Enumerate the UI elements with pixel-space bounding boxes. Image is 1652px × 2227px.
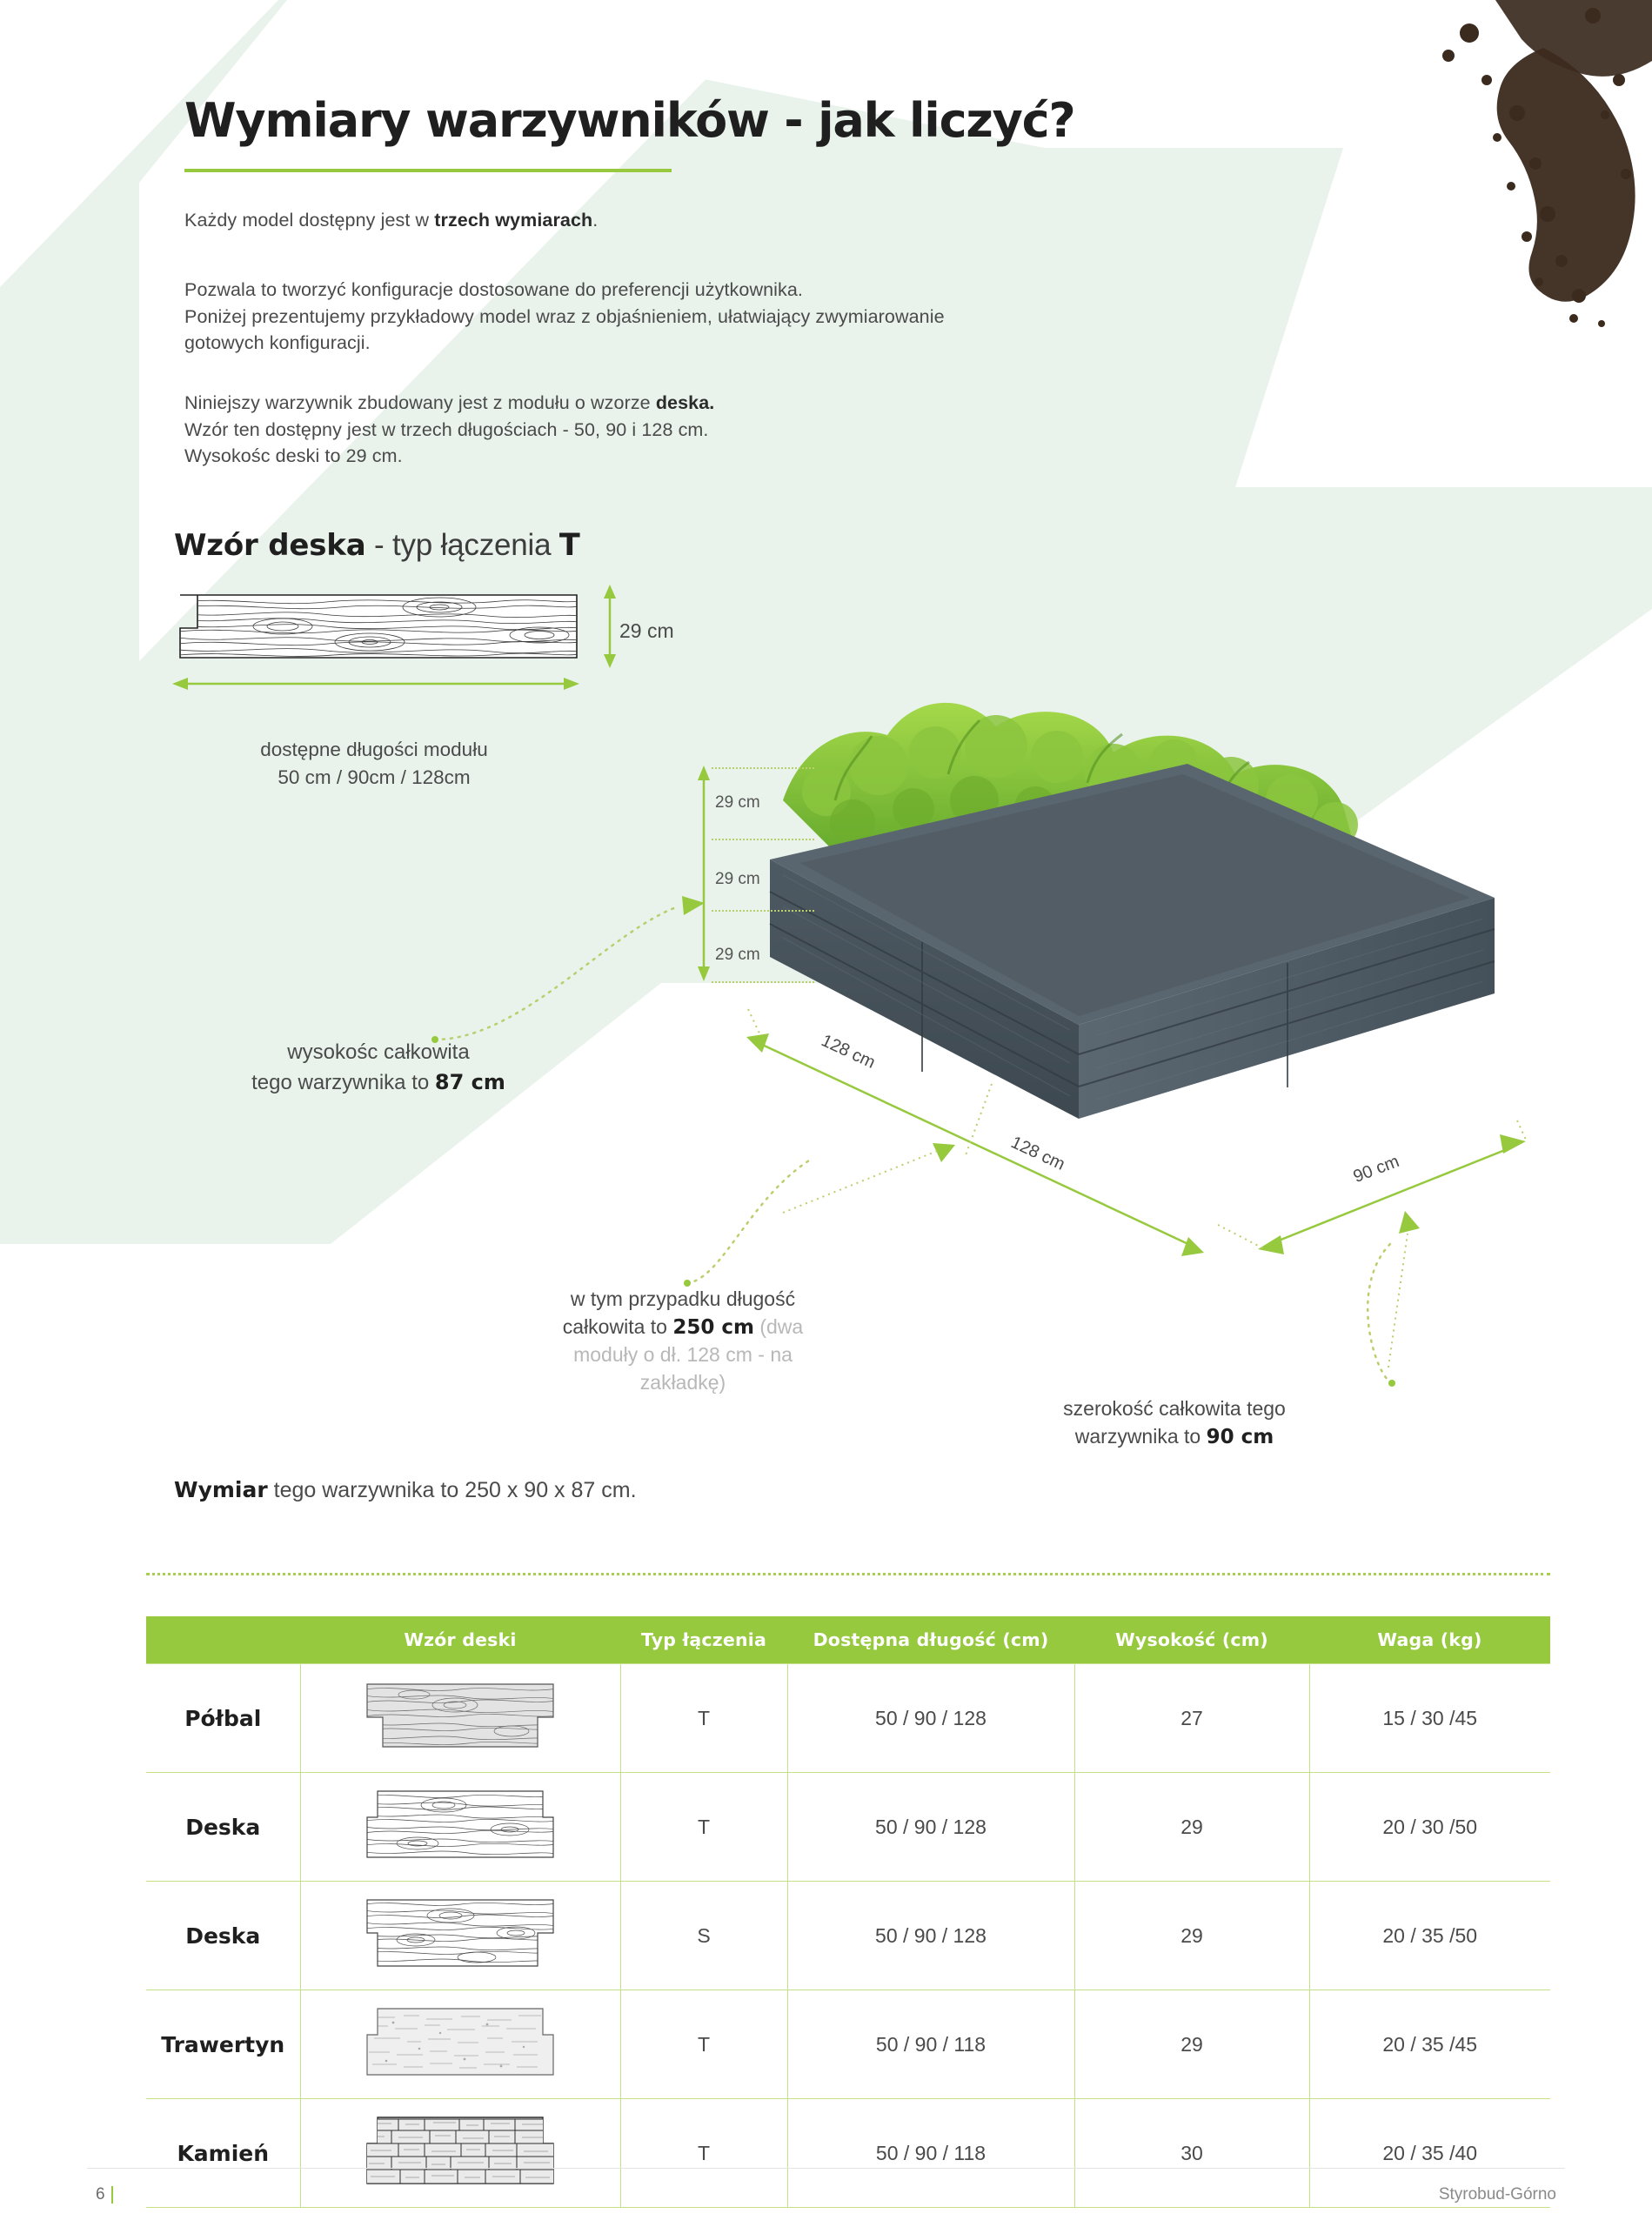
height-guide-1 — [712, 767, 814, 769]
height-guide-2 — [712, 839, 814, 840]
row-lengths: 50 / 90 / 128 — [787, 1882, 1074, 1990]
summary-bold: Wymiar — [174, 1477, 268, 1502]
row-swatch — [300, 1990, 620, 2099]
table-col-pattern: Wzór deski — [300, 1616, 620, 1664]
row-height: 29 — [1074, 1990, 1309, 2099]
plank-length-caption: dostępne długości modułu 50 cm / 90cm / … — [130, 736, 618, 792]
table-row: Deska — [146, 1773, 1550, 1882]
pattern-heading: Wzór deska - typ łączenia T — [174, 528, 580, 563]
page-number-bar-icon — [111, 2186, 113, 2204]
row-height: 29 — [1074, 1882, 1309, 1990]
row-height: 30 — [1074, 2099, 1309, 2208]
row-swatch — [300, 1773, 620, 1882]
dotted-separator — [146, 1573, 1550, 1575]
row-joint: T — [620, 1773, 787, 1882]
intro-p3-line3: Wysokośc deski to 29 cm. — [184, 445, 403, 466]
intro-p2-line2: Poniżej prezentujemy przykładowy model w… — [184, 306, 945, 327]
summary-rest: tego warzywnika to 250 x 90 x 87 cm. — [268, 1478, 637, 1502]
table-row: Deska — [146, 1882, 1550, 1990]
width-caption-line1: szerokość całkowita tego — [1063, 1397, 1286, 1420]
specification-table: Wzór deski Typ łączenia Dostępna długość… — [146, 1616, 1550, 2208]
table-col-weight: Waga (kg) — [1309, 1616, 1550, 1664]
row-weight: 20 / 35 /45 — [1309, 1990, 1550, 2099]
row-lengths: 50 / 90 / 128 — [787, 1773, 1074, 1882]
wood-board-t-swatch-icon — [364, 1786, 557, 1863]
pattern-heading-bold: Wzór deska — [174, 528, 365, 563]
plank-height-label: 29 cm — [619, 619, 674, 643]
total-height-value: 87 cm — [435, 1070, 505, 1094]
height-guide-4 — [712, 981, 814, 983]
row-weight: 15 / 30 /45 — [1309, 1664, 1550, 1773]
row-name: Deska — [146, 1773, 300, 1882]
row-name: Kamień — [146, 2099, 300, 2208]
length-leader-line — [670, 1131, 896, 1305]
travertine-swatch-icon — [364, 2003, 557, 2080]
row-joint: S — [620, 1882, 787, 1990]
table-row: Trawertyn — [146, 1990, 1550, 2099]
row-weight: 20 / 30 /50 — [1309, 1773, 1550, 1882]
stone-swatch-icon — [364, 2112, 557, 2189]
intro-paragraph-1: Każdy model dostępny jest w trzech wymia… — [184, 207, 1315, 234]
page-title: Wymiary warzywników - jak liczyć? — [184, 96, 1402, 146]
page-number-value: 6 — [96, 2185, 105, 2204]
row-lengths: 50 / 90 / 128 — [787, 1664, 1074, 1773]
row-name: Półbal — [146, 1664, 300, 1773]
height-leader-line — [418, 879, 722, 1053]
row-joint: T — [620, 1990, 787, 2099]
row-lengths: 50 / 90 / 118 — [787, 2099, 1074, 2208]
table-row: Półbal — [146, 1664, 1550, 1773]
plank-height-arrow-icon — [600, 585, 619, 668]
total-height-caption: wysokośc całkowita tego warzywnika to 87… — [148, 1038, 609, 1098]
height-guide-3 — [712, 910, 814, 912]
intro-paragraph-3: Niniejszy warzywnik zbudowany jest z mod… — [184, 390, 1315, 470]
intro-p3-line2: Wzór ten dostępny jest w trzech długości… — [184, 419, 709, 440]
pattern-heading-type: T — [559, 528, 580, 563]
page-number: 6 — [96, 2185, 113, 2204]
intro-p1-bold: trzech wymiarach — [434, 210, 592, 231]
length-caption-line2-pre: całkowita to — [563, 1315, 673, 1338]
row-name: Deska — [146, 1882, 300, 1990]
header: Wymiary warzywników - jak liczyć? — [184, 96, 1402, 172]
table-col-height: Wysokość (cm) — [1074, 1616, 1309, 1664]
plank-length-caption-line2: 50 cm / 90cm / 128cm — [278, 766, 470, 788]
total-length-caption: w tym przypadku długość całkowita to 250… — [487, 1286, 879, 1397]
length-caption-line3: moduły o dł. 128 cm - na — [573, 1343, 793, 1366]
intro-p2-line1: Pozwala to tworzyć konfiguracje dostosow… — [184, 279, 803, 300]
width-leader-line — [1201, 1235, 1401, 1401]
intro-p2-line3: gotowych konfiguracji. — [184, 332, 371, 353]
plank-illustration — [178, 590, 579, 661]
row-height: 27 — [1074, 1664, 1309, 1773]
table-row: Kamień — [146, 2099, 1550, 2208]
total-length-value: 250 cm — [672, 1316, 754, 1339]
width-caption-line2-pre: warzywnika to — [1075, 1425, 1207, 1448]
intro-p1-pre: Każdy model dostępny jest w — [184, 210, 434, 231]
length-caption-line2-faded: (dwa — [754, 1315, 803, 1338]
table-col-joint: Typ łączenia — [620, 1616, 787, 1664]
total-width-caption: szerokość całkowita tego warzywnika to 9… — [992, 1395, 1357, 1451]
height-segment-label-1: 29 cm — [715, 793, 760, 813]
row-swatch — [300, 2099, 620, 2208]
wood-board-s-swatch-icon — [364, 1895, 557, 1971]
row-height: 29 — [1074, 1773, 1309, 1882]
total-height-line2-pre: tego warzywnika to — [251, 1071, 435, 1094]
plank-length-arrow-icon — [172, 675, 579, 692]
intro-p3-pre: Niniejszy warzywnik zbudowany jest z mod… — [184, 392, 656, 413]
intro-paragraph-2: Pozwala to tworzyć konfiguracje dostosow… — [184, 277, 1359, 357]
table-header-row: Wzór deski Typ łączenia Dostępna długość… — [146, 1616, 1550, 1664]
intro-p3-bold: deska. — [656, 392, 715, 413]
brand-name: Styrobud-Górno — [1439, 2185, 1556, 2204]
intro-p1-post: . — [592, 210, 598, 231]
plank-length-caption-line1: dostępne długości modułu — [260, 739, 487, 760]
table-col-length: Dostępna długość (cm) — [787, 1616, 1074, 1664]
length-caption-line1: w tym przypadku długość — [571, 1287, 795, 1310]
table-col-blank — [146, 1616, 300, 1664]
row-lengths: 50 / 90 / 118 — [787, 1990, 1074, 2099]
row-joint: T — [620, 2099, 787, 2208]
row-joint: T — [620, 1664, 787, 1773]
total-width-value: 90 cm — [1207, 1426, 1274, 1448]
length-caption-line4: zakładkę) — [640, 1371, 726, 1394]
title-underline — [184, 169, 672, 172]
wood-halflog-swatch-icon — [364, 1677, 557, 1754]
row-name: Trawertyn — [146, 1990, 300, 2099]
total-height-line1: wysokośc całkowita — [287, 1040, 469, 1064]
row-weight: 20 / 35 /50 — [1309, 1882, 1550, 1990]
row-swatch — [300, 1664, 620, 1773]
footer-divider — [87, 2168, 1565, 2169]
summary-line: Wymiar tego warzywnika to 250 x 90 x 87 … — [174, 1477, 637, 1503]
pattern-heading-mid: - typ łączenia — [365, 528, 558, 562]
row-swatch — [300, 1882, 620, 1990]
